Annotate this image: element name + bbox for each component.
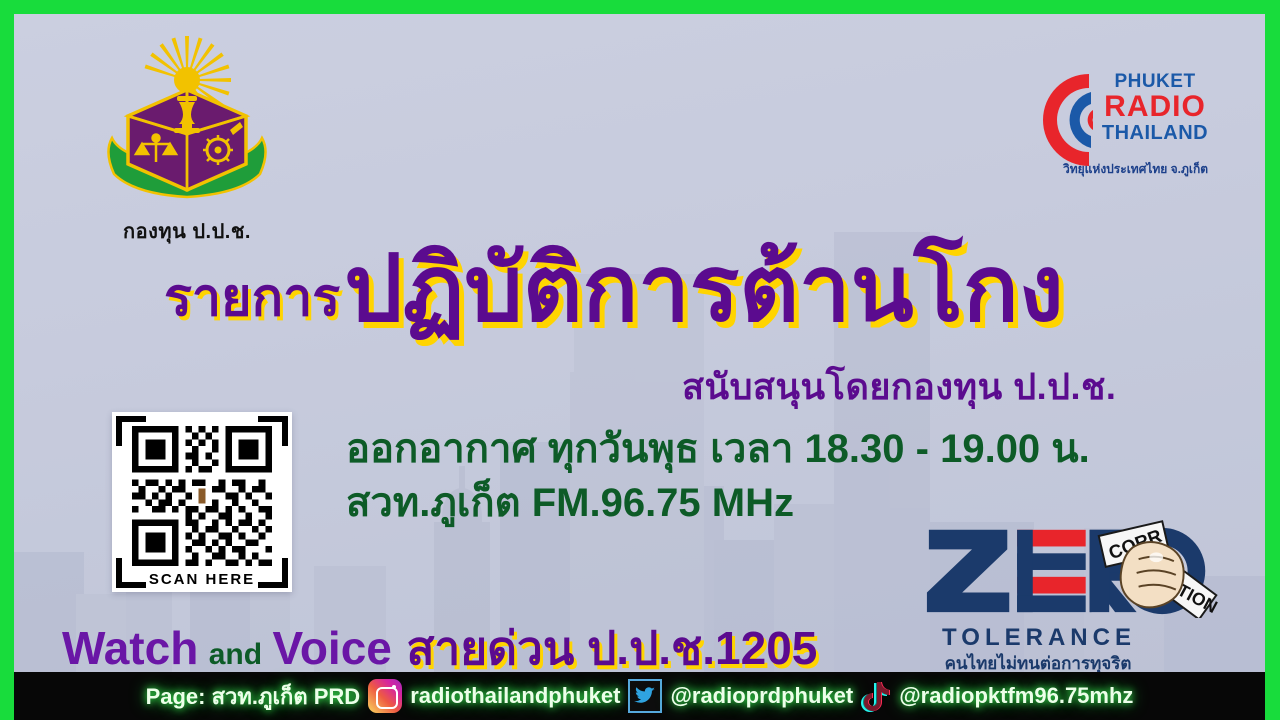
zero-tolerance-fist-icon: CORR UTION (920, 520, 1220, 618)
nacc-fund-emblem-icon (94, 34, 280, 206)
twitter-handle[interactable]: @radioprdphuket (670, 683, 853, 709)
title-subtitle: สนับสนุนโดยกองทุน ป.ป.ช. (682, 358, 1116, 415)
station-logo-text: PHUKET RADIO THAILAND (1089, 72, 1221, 143)
tagline-voice: Voice (273, 622, 392, 672)
tiktok-note-glyph (861, 679, 891, 713)
social-media-bar: Page: สวท.ภูเก็ต PRD radiothailandphuket… (14, 672, 1265, 720)
poster-stage: กองทุน ป.ป.ช. PHUKET RADIO THAILAND วิทย… (14, 14, 1265, 672)
twitter-icon[interactable] (628, 679, 662, 713)
tagline-and: and (203, 638, 268, 671)
zero-tolerance-thai: คนไทยไม่ทนต่อการทุจริต (918, 650, 1158, 672)
hotline-tagline: Watch and Voice สายด่วน ป.ป.ช.1205 (62, 612, 817, 672)
qr-corner-top-right (258, 416, 288, 446)
twitter-bird-glyph (634, 687, 656, 705)
qr-code-icon[interactable] (132, 426, 272, 566)
tiktok-handle[interactable]: @radiopktfm96.75mhz (899, 683, 1133, 709)
tagline-hotline-number: สายด่วน ป.ป.ช.1205 (396, 622, 817, 672)
qr-code-box[interactable]: SCAN HERE (112, 412, 292, 592)
title-main: ปฏิบัติการต้านโกง (344, 246, 1063, 333)
instagram-icon[interactable] (368, 679, 402, 713)
zero-tolerance-word: TOLERANCE (924, 624, 1154, 652)
nacc-emblem: กองทุน ป.ป.ช. (92, 34, 282, 247)
station-logo-thai-line: วิทยุแห่งประเทศไทย จ.ภูเก็ต (1063, 160, 1208, 179)
radio-waves-icon (1011, 68, 1097, 172)
station-logo-line3: THAILAND (1089, 123, 1221, 143)
qr-scan-label: SCAN HERE (112, 571, 292, 588)
broadcast-schedule: ออกอากาศ ทุกวันพุธ เวลา 18.30 - 19.00 น. (346, 422, 1090, 476)
zero-tolerance-logo: CORR UTION TOLERANCE คนไทยไม่ทนต่อการทุจ… (912, 514, 1232, 672)
tiktok-icon[interactable] (861, 679, 891, 713)
station-logo: PHUKET RADIO THAILAND วิทยุแห่งประเทศไทย… (1011, 66, 1221, 178)
qr-corner-top-left (116, 416, 146, 446)
title-prefix: รายการ (164, 274, 340, 333)
facebook-page-label[interactable]: Page: สวท.ภูเก็ต PRD (146, 679, 361, 714)
station-logo-line2: RADIO (1089, 91, 1221, 123)
instagram-handle[interactable]: radiothailandphuket (410, 683, 620, 709)
tagline-watch: Watch (62, 622, 198, 672)
poster-root: กองทุน ป.ป.ช. PHUKET RADIO THAILAND วิทย… (0, 0, 1280, 720)
station-logo-line1: PHUKET (1089, 72, 1221, 91)
program-title: รายการ ปฏิบัติการต้านโกง (164, 246, 1224, 333)
emblem-label: กองทุน ป.ป.ช. (92, 215, 282, 247)
